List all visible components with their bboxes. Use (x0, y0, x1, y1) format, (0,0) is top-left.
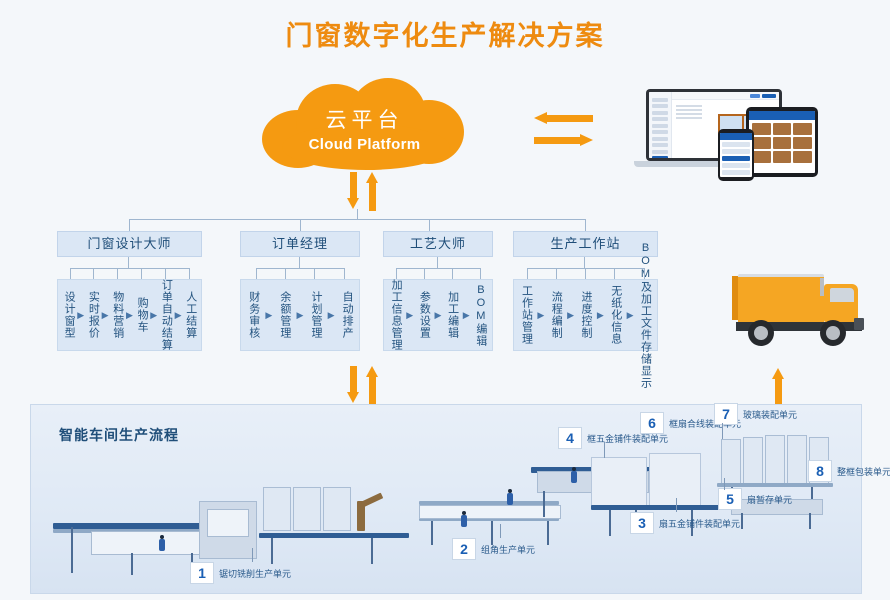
module-subtree-4 (513, 257, 658, 279)
machine-leg (271, 538, 273, 564)
arrow-up-icon-factory (366, 366, 379, 402)
module-item[interactable]: 加工信息管理 (389, 286, 402, 344)
item-label: 参数设置 (417, 291, 430, 339)
worker-figure (571, 467, 577, 483)
callout-number: 7 (714, 403, 738, 425)
callout-number: 8 (808, 460, 832, 482)
callout-leader (722, 423, 723, 439)
module-group-4[interactable]: 生产工作站 工作站管理 ▶ 流程编制 ▶ 进度控制 ▶ 无纸化信息 ▶ BOM及… (513, 231, 658, 351)
cloud-platform: 云平台 Cloud Platform (262, 78, 467, 170)
module-title-3: 工艺大师 (383, 231, 493, 257)
module-item[interactable]: 实时报价 (86, 286, 99, 344)
worker-figure (507, 489, 513, 505)
module-item[interactable]: 设计窗型 (62, 286, 75, 344)
callout-1[interactable]: 1 锯切铣削生产单元 (190, 562, 291, 584)
item-label-line2: 文件存储显示 (639, 317, 652, 389)
robot-arm (361, 493, 383, 508)
glass-panel (765, 435, 785, 485)
module-group-1[interactable]: 门窗设计大师 设计窗型 ▶ 实时报价 ▶ 物料营销 ▶ 购物车 ▶ 订单自动结算… (57, 231, 202, 351)
callout-label: 锯切铣削生产单元 (219, 567, 291, 580)
module-item[interactable]: BOM编辑 (474, 286, 487, 344)
machine-leg (431, 521, 433, 545)
arrow-left-icon (534, 112, 606, 125)
machine-leg (609, 510, 611, 536)
chevron-right-icon: ▶ (265, 310, 272, 321)
machine-leg (741, 513, 743, 529)
arrow-down-icon-factory (347, 366, 360, 402)
conveyor-line (717, 483, 833, 487)
roller-frame (419, 505, 561, 519)
cloud-platform-text: 云平台 Cloud Platform (262, 78, 467, 170)
machine-leg (371, 538, 373, 564)
callout-label: 整框包装单元 (837, 465, 890, 478)
module-item[interactable]: 加工编辑 (446, 286, 459, 344)
item-label: 自动排产 (340, 291, 353, 339)
chevron-right-icon: ▶ (77, 310, 84, 321)
module-item[interactable]: 进度控制 (579, 286, 592, 344)
module-item[interactable]: 流程编制 (549, 286, 562, 344)
chevron-right-icon: ▶ (297, 310, 304, 321)
chevron-right-icon: ▶ (150, 310, 157, 321)
callout-2[interactable]: 2 组角生产单元 (452, 538, 535, 560)
machine-leg (809, 513, 811, 529)
callout-3[interactable]: 3 扇五金铺件装配单元 (630, 512, 740, 534)
panel-stack (293, 487, 321, 531)
module-group-3[interactable]: 工艺大师 加工信息管理 ▶ 参数设置 ▶ 加工编辑 ▶ BOM编辑 (383, 231, 493, 351)
delivery-truck-icon (712, 262, 872, 358)
chevron-right-icon: ▶ (537, 310, 544, 321)
callout-leader (604, 442, 605, 458)
callout-leader (676, 498, 677, 512)
item-label: 进度控制 (579, 291, 592, 339)
machine-leg (71, 527, 73, 573)
module-title-1: 门窗设计大师 (57, 231, 202, 257)
module-item[interactable]: 购物车 (135, 286, 148, 344)
item-label: 加工信息管理 (389, 279, 402, 351)
item-label: BOM编辑 (474, 284, 487, 347)
chevron-right-icon: ▶ (126, 310, 133, 321)
chevron-right-icon: ▶ (597, 310, 604, 321)
chevron-right-icon: ▶ (328, 310, 335, 321)
module-item[interactable]: 工作站管理 (519, 286, 532, 344)
module-subtree-2 (240, 257, 360, 279)
cloud-title-cn: 云平台 (326, 104, 404, 134)
module-item-last[interactable]: BOM及加工 文件存储显示 (639, 286, 652, 344)
chevron-right-icon: ▶ (406, 310, 413, 321)
module-items-1: 设计窗型 ▶ 实时报价 ▶ 物料营销 ▶ 购物车 ▶ 订单自动结算 ▶ 人工结算 (57, 279, 202, 351)
module-item[interactable]: 参数设置 (417, 286, 430, 344)
module-connector-tree (0, 165, 890, 235)
module-items-2: 财务审核 ▶ 余额管理 ▶ 计划管理 ▶ 自动排产 (240, 279, 360, 351)
glass-panel (743, 437, 763, 485)
module-items-3: 加工信息管理 ▶ 参数设置 ▶ 加工编辑 ▶ BOM编辑 (383, 279, 493, 351)
factory-title: 智能车间生产流程 (59, 425, 179, 445)
cloud-title-en: Cloud Platform (309, 136, 421, 153)
callout-number: 3 (630, 512, 654, 534)
module-group-2[interactable]: 订单经理 财务审核 ▶ 余额管理 ▶ 计划管理 ▶ 自动排产 (240, 231, 360, 351)
item-label: 设计窗型 (62, 291, 75, 339)
module-item[interactable]: 物料营销 (111, 286, 124, 344)
panel-stack (323, 487, 351, 531)
callout-leader (252, 548, 253, 562)
worker-figure (461, 511, 467, 527)
item-label: 人工结算 (184, 291, 197, 339)
storage-rack (649, 453, 701, 507)
arrow-right-icon (534, 134, 606, 147)
chevron-right-icon: ▶ (627, 310, 634, 321)
callout-number: 2 (452, 538, 476, 560)
conveyor-line (259, 533, 409, 538)
module-item[interactable]: 无纸化信息 (609, 286, 622, 344)
callout-number: 6 (640, 412, 664, 434)
module-item[interactable]: 自动排产 (340, 286, 353, 344)
chevron-right-icon: ▶ (463, 310, 470, 321)
callout-number: 1 (190, 562, 214, 584)
item-label: 余额管理 (278, 291, 291, 339)
module-item[interactable]: 人工结算 (184, 286, 197, 344)
callout-label: 组角生产单元 (481, 543, 535, 556)
module-item[interactable]: 订单自动结算 (159, 286, 172, 344)
worker-figure (159, 535, 165, 551)
cnc-panel (207, 509, 249, 537)
module-item[interactable]: 财务审核 (247, 286, 260, 344)
item-label: 购物车 (135, 297, 148, 333)
item-label: 流程编制 (549, 291, 562, 339)
item-label: 实时报价 (86, 291, 99, 339)
item-label: 物料营销 (111, 291, 124, 339)
item-label-line1: BOM及加工 (639, 242, 652, 317)
callout-label: 扇五金铺件装配单元 (659, 517, 740, 530)
module-items-4: 工作站管理 ▶ 流程编制 ▶ 进度控制 ▶ 无纸化信息 ▶ BOM及加工 文件存… (513, 279, 658, 351)
callout-number: 5 (718, 488, 742, 510)
arrow-up-icon-truck (772, 368, 785, 408)
item-label: 无纸化信息 (609, 285, 622, 345)
panel-stack (263, 487, 291, 531)
item-label: 加工编辑 (446, 291, 459, 339)
glass-panel (787, 435, 807, 485)
callout-5[interactable]: 5 扇暂存单元 (718, 488, 792, 510)
machine-leg (543, 491, 545, 517)
module-subtree-3 (383, 257, 493, 279)
callout-8[interactable]: 8 整框包装单元 (808, 460, 890, 482)
callout-7[interactable]: 7 玻璃装配单元 (714, 403, 797, 425)
module-subtree-1 (57, 257, 202, 279)
item-label: 财务审核 (247, 291, 260, 339)
callout-label: 玻璃装配单元 (743, 408, 797, 421)
machine-leg (131, 553, 133, 575)
module-title-4: 生产工作站 (513, 231, 658, 257)
storage-rack (591, 457, 647, 507)
callout-number: 4 (558, 427, 582, 449)
callout-label: 扇暂存单元 (747, 493, 792, 506)
infographic-root: 门窗数字化生产解决方案 云平台 Cloud Platform (0, 0, 890, 600)
callout-leader (724, 478, 725, 490)
machine-leg (547, 521, 549, 545)
chevron-right-icon: ▶ (175, 310, 182, 321)
page-title: 门窗数字化生产解决方案 (0, 14, 890, 53)
module-item[interactable]: 余额管理 (278, 286, 291, 344)
callout-leader (500, 524, 501, 538)
module-title-2: 订单经理 (240, 231, 360, 257)
item-label: 订单自动结算 (159, 279, 172, 351)
module-item[interactable]: 计划管理 (309, 286, 322, 344)
chevron-right-icon: ▶ (435, 310, 442, 321)
chevron-right-icon: ▶ (102, 310, 109, 321)
chevron-right-icon: ▶ (567, 310, 574, 321)
item-label: 计划管理 (309, 291, 322, 339)
item-label: 工作站管理 (519, 285, 532, 345)
